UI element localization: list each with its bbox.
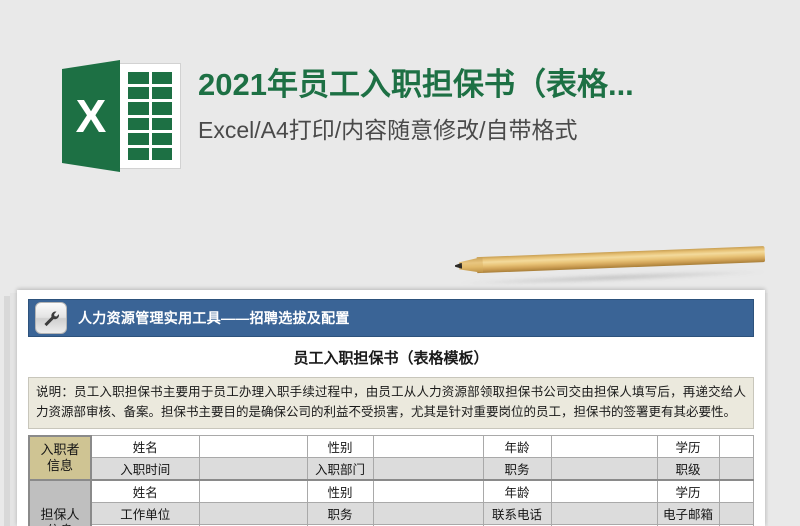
field-label: 工作单位 bbox=[91, 503, 199, 525]
field-input[interactable] bbox=[199, 480, 307, 503]
field-label: 姓名 bbox=[91, 480, 199, 503]
field-input[interactable] bbox=[551, 458, 657, 481]
field-input[interactable] bbox=[551, 480, 657, 503]
field-label: 学历 bbox=[657, 480, 719, 503]
field-label: 入职时间 bbox=[91, 458, 199, 481]
document-description: 说明：员工入职担保书主要用于员工办理入职手续过程中，由员工从人力资源部领取担保书… bbox=[28, 377, 754, 429]
section-label-guarantor: 担保人 信息 bbox=[29, 480, 91, 526]
field-label: 性别 bbox=[307, 480, 373, 503]
document-form-table[interactable]: 入职者 信息 姓名 性别 年龄 学历 入职时间 入职部门 bbox=[28, 435, 754, 526]
excel-file-icon: X bbox=[62, 60, 184, 172]
field-input[interactable] bbox=[719, 436, 754, 458]
table-row[interactable]: 担保人 信息 姓名 性别 年龄 学历 bbox=[29, 480, 754, 503]
document-preview-sheet[interactable]: 人力资源管理实用工具——招聘选拔及配置 员工入职担保书（表格模板） 说明：员工入… bbox=[17, 290, 765, 526]
preview-hero: X 2021年员工入职担保书（表格... Excel/A4打印/内容随意修改/自… bbox=[0, 0, 800, 232]
field-input[interactable] bbox=[719, 458, 754, 481]
field-label: 职务 bbox=[307, 503, 373, 525]
field-input[interactable] bbox=[199, 503, 307, 525]
field-input[interactable] bbox=[373, 458, 483, 481]
pencil-graphite-tip bbox=[455, 263, 462, 269]
page-title: 2021年员工入职担保书（表格... bbox=[198, 66, 634, 103]
section-label-line1: 担保人 bbox=[32, 507, 88, 523]
field-label: 性别 bbox=[307, 436, 373, 458]
hero-content: X 2021年员工入职担保书（表格... Excel/A4打印/内容随意修改/自… bbox=[62, 60, 634, 172]
field-input[interactable] bbox=[373, 436, 483, 458]
field-input[interactable] bbox=[551, 436, 657, 458]
excel-icon-letter: X bbox=[62, 60, 120, 172]
section-label-line1: 入职者 bbox=[32, 442, 88, 458]
field-label: 职级 bbox=[657, 458, 719, 481]
pencil-wood-tip bbox=[459, 257, 484, 274]
field-input[interactable] bbox=[719, 480, 754, 503]
section-label-onboarding: 入职者 信息 bbox=[29, 436, 91, 481]
table-row[interactable]: 入职者 信息 姓名 性别 年龄 学历 bbox=[29, 436, 754, 458]
document-banner: 人力资源管理实用工具——招聘选拔及配置 bbox=[28, 299, 754, 337]
document-banner-title: 人力资源管理实用工具——招聘选拔及配置 bbox=[78, 308, 350, 328]
document-heading: 员工入职担保书（表格模板） bbox=[28, 337, 754, 377]
page-subtitle: Excel/A4打印/内容随意修改/自带格式 bbox=[198, 117, 634, 145]
field-input[interactable] bbox=[199, 458, 307, 481]
field-label: 入职部门 bbox=[307, 458, 373, 481]
field-label: 电子邮箱 bbox=[657, 503, 719, 525]
field-input[interactable] bbox=[199, 436, 307, 458]
field-label: 年龄 bbox=[483, 436, 551, 458]
excel-icon-cells bbox=[128, 72, 172, 160]
field-input[interactable] bbox=[719, 503, 754, 525]
field-label: 年龄 bbox=[483, 480, 551, 503]
field-label: 姓名 bbox=[91, 436, 199, 458]
field-label: 联系电话 bbox=[483, 503, 551, 525]
field-input[interactable] bbox=[551, 503, 657, 525]
table-row[interactable]: 入职时间 入职部门 职务 职级 bbox=[29, 458, 754, 481]
section-label-line2: 信息 bbox=[32, 458, 88, 474]
table-row[interactable]: 工作单位 职务 联系电话 电子邮箱 bbox=[29, 503, 754, 525]
field-label: 学历 bbox=[657, 436, 719, 458]
hero-text-block: 2021年员工入职担保书（表格... Excel/A4打印/内容随意修改/自带格… bbox=[198, 60, 634, 145]
field-input[interactable] bbox=[373, 480, 483, 503]
wrench-icon bbox=[35, 302, 67, 334]
field-input[interactable] bbox=[373, 503, 483, 525]
field-label: 职务 bbox=[483, 458, 551, 481]
